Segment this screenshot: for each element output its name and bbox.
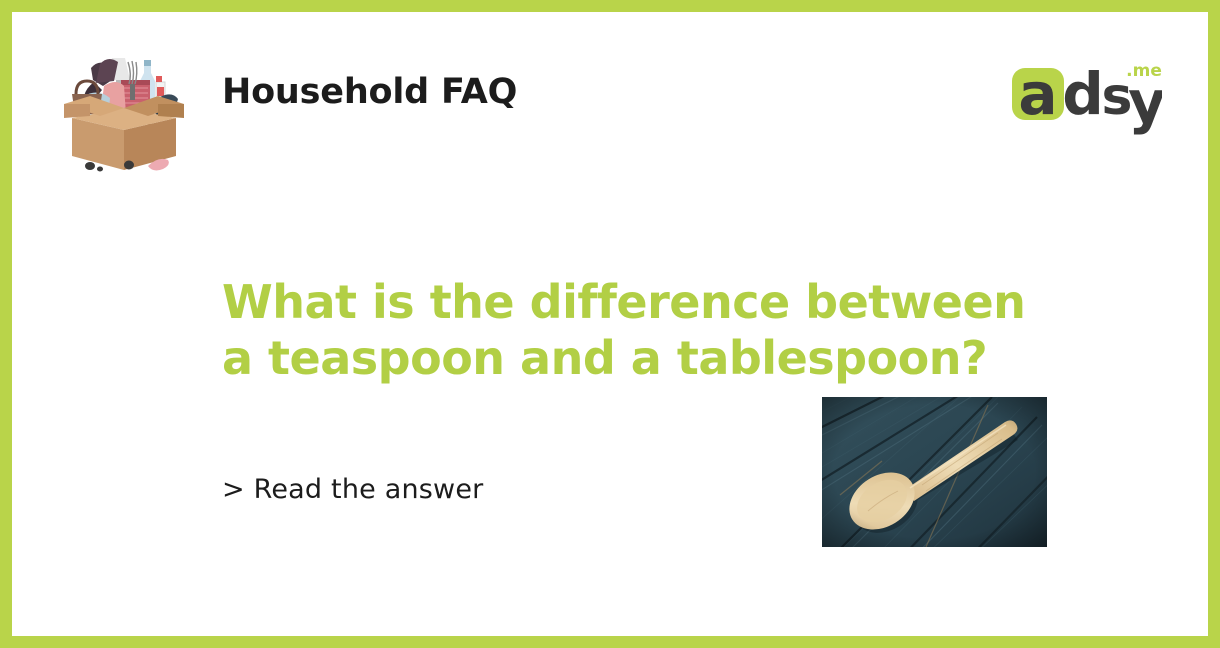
logo-tld: .me	[1126, 61, 1162, 81]
question-heading: What is the difference between a teaspoo…	[222, 274, 1122, 386]
poster-canvas: Household FAQ a d s y .me What is the di…	[12, 12, 1208, 636]
read-the-answer-link[interactable]: > Read the answer	[222, 474, 483, 505]
adsy-logo[interactable]: a d s y .me	[1010, 52, 1162, 138]
poster-frame: Household FAQ a d s y .me What is the di…	[0, 0, 1220, 648]
logo-letter-a: a	[1018, 60, 1057, 128]
page-title: Household FAQ	[222, 72, 517, 112]
cardboard-box-with-household-items-icon	[56, 42, 192, 172]
logo-letter-d: d	[1062, 60, 1104, 128]
question-line-2: a teaspoon and a tablespoon?	[222, 330, 1122, 386]
wooden-spoon-photo	[822, 397, 1047, 547]
question-line-1: What is the difference between	[222, 274, 1122, 330]
